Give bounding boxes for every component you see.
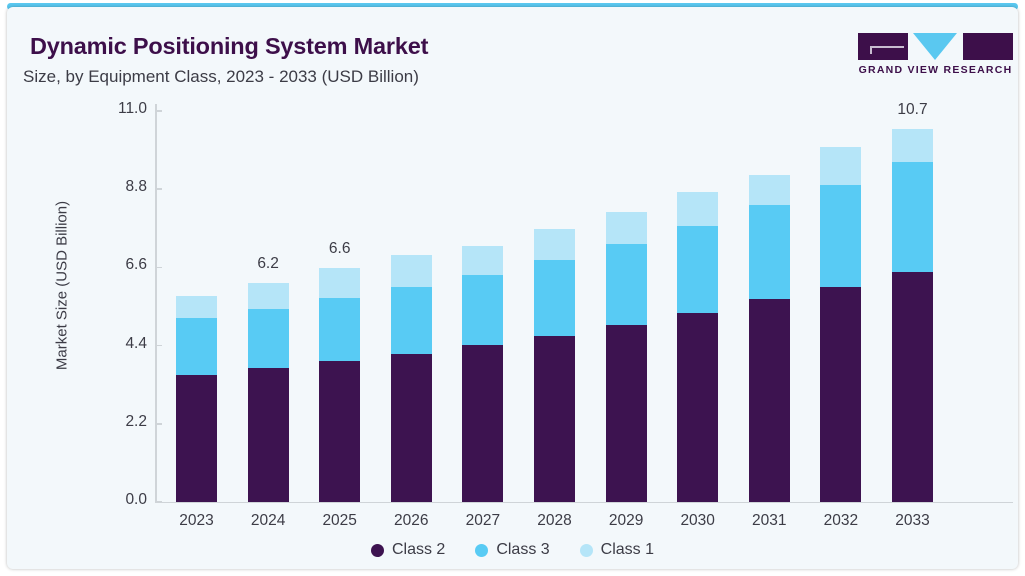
bar-segment-class-3[interactable] [606,244,647,325]
bar-segment-class-2[interactable] [319,361,360,502]
chart-legend: Class 2Class 3Class 1 [7,541,1018,559]
legend-swatch-icon [580,544,593,557]
bar-2030[interactable] [677,111,718,502]
bar-segment-class-1[interactable] [319,268,360,298]
bar-segment-class-1[interactable] [749,175,790,206]
x-axis-tick-label: 2030 [662,512,734,530]
bar-segment-class-1[interactable] [820,147,861,185]
bar-segment-class-3[interactable] [892,162,933,272]
bar-segment-class-2[interactable] [820,287,861,502]
y-axis-tick [155,345,162,347]
bar-segment-class-1[interactable] [534,229,575,260]
x-axis-tick-label: 2031 [733,512,805,530]
bar-segment-class-1[interactable] [248,283,289,309]
y-axis-line [155,104,157,502]
bar-segment-class-3[interactable] [176,318,217,375]
bar-segment-class-2[interactable] [677,313,718,502]
bar-2025[interactable] [319,111,360,502]
legend-swatch-icon [371,544,384,557]
x-axis-tick-label: 2023 [161,512,233,530]
x-axis-tick-label: 2027 [447,512,519,530]
bar-segment-class-1[interactable] [677,192,718,226]
y-axis-tick-label: 11.0 [37,100,147,118]
legend-item-class-1[interactable]: Class 1 [580,541,654,559]
bar-segment-class-1[interactable] [606,212,647,244]
x-axis-tick-label: 2024 [232,512,304,530]
bar-2032[interactable] [820,111,861,502]
bar-segment-class-2[interactable] [462,345,503,502]
y-axis-tick [155,267,162,269]
legend-item-class-2[interactable]: Class 2 [371,541,445,559]
bar-2028[interactable] [534,111,575,502]
y-axis-tick [155,423,162,425]
bar-segment-class-2[interactable] [248,368,289,502]
y-axis-title: Market Size (USD Billion) [54,176,71,396]
legend-label: Class 2 [392,541,445,559]
bar-segment-class-1[interactable] [892,129,933,162]
stacked-bar-chart: Market Size (USD Billion) 0.02.24.46.68.… [7,7,1018,569]
bar-segment-class-3[interactable] [749,205,790,299]
y-axis-tick-label: 8.8 [37,178,147,196]
bar-2029[interactable] [606,111,647,502]
bar-segment-class-3[interactable] [319,298,360,361]
bar-segment-class-2[interactable] [892,272,933,502]
bar-segment-class-2[interactable] [749,299,790,502]
bar-segment-class-1[interactable] [462,246,503,275]
bar-segment-class-3[interactable] [248,309,289,369]
bar-segment-class-1[interactable] [176,296,217,318]
bar-segment-class-2[interactable] [534,336,575,502]
bar-segment-class-3[interactable] [462,275,503,345]
bar-2023[interactable] [176,111,217,502]
x-axis-tick-label: 2029 [590,512,662,530]
y-axis-tick [155,188,162,190]
legend-label: Class 3 [496,541,549,559]
y-axis-tick-label: 2.2 [37,413,147,431]
bar-segment-class-2[interactable] [176,375,217,502]
bar-value-label-2024: 6.2 [232,255,304,273]
legend-swatch-icon [475,544,488,557]
bar-segment-class-2[interactable] [391,354,432,502]
x-axis-tick-label: 2025 [304,512,376,530]
chart-card: Dynamic Positioning System Market Size, … [7,7,1018,569]
x-axis-tick-label: 2026 [375,512,447,530]
legend-item-class-3[interactable]: Class 3 [475,541,549,559]
y-axis-tick-label: 4.4 [37,335,147,353]
y-axis-tick-label: 6.6 [37,256,147,274]
bar-segment-class-1[interactable] [391,255,432,287]
y-axis-tick [155,110,162,112]
bar-value-label-2025: 6.6 [304,240,376,258]
bar-segment-class-3[interactable] [677,226,718,313]
x-axis-tick-label: 2028 [519,512,591,530]
bar-2033[interactable] [892,111,933,502]
bar-segment-class-2[interactable] [606,325,647,502]
bar-segment-class-3[interactable] [820,185,861,287]
bar-2027[interactable] [462,111,503,502]
x-axis-tick-label: 2033 [877,512,949,530]
bar-2031[interactable] [749,111,790,502]
legend-label: Class 1 [601,541,654,559]
y-axis-tick-label: 0.0 [37,491,147,509]
bar-2026[interactable] [391,111,432,502]
bar-value-label-2033: 10.7 [877,101,949,119]
bar-segment-class-3[interactable] [391,287,432,353]
bar-2024[interactable] [248,111,289,502]
x-axis-tick-label: 2032 [805,512,877,530]
bar-segment-class-3[interactable] [534,260,575,335]
y-axis-tick [155,501,162,503]
